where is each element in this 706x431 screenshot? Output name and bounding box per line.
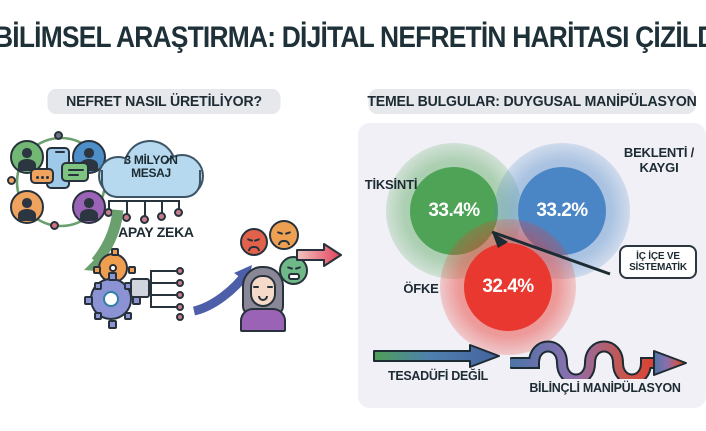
venn-label-anxiety: BEKLENTİ / KAYGI <box>616 145 702 175</box>
venn-label-anger: ÖFKE <box>392 281 450 296</box>
gear-circuit-icon <box>130 266 198 322</box>
right-section-heading: TEMEL BULGULAR: DUYGUSAL MANİPÜLASYON <box>368 89 695 114</box>
venn-value-anxiety: 33.2% <box>536 200 587 222</box>
straight-arrow-label: TESADÜFİ DEĞİL <box>368 369 508 383</box>
callout-box: İÇ İÇE VE SİSTEMATİK <box>619 245 697 279</box>
network-node-left <box>7 176 16 185</box>
venn-value-disgust: 33.4% <box>428 200 479 222</box>
cloud-label: 3 MİLYON MESAJ <box>98 154 204 180</box>
person-icon <box>240 266 286 332</box>
emoji-angry-orange <box>269 220 299 250</box>
left-section-heading: NEFRET NASIL ÜRETİLİYOR? <box>47 89 280 114</box>
chat-bubble-green <box>61 162 89 182</box>
avatar-orange <box>10 190 44 224</box>
straight-arrow-icon <box>372 343 502 369</box>
page-title: BİLİMSEL ARAŞTIRMA: DİJİTAL NEFRETİN HAR… <box>0 17 628 59</box>
callout-leader-line <box>488 228 628 286</box>
callout-line-2: SİSTEMATİK <box>629 262 687 273</box>
network-node-top <box>54 131 63 140</box>
chat-bubble-orange <box>30 168 54 184</box>
hate-production-illustration: 3 MİLYON MESAJ YAPAY ZEKA <box>0 118 350 358</box>
wavy-arrow-label: BİLİNÇLİ MANİPÜLASYON <box>514 381 696 395</box>
cloud-icon: 3 MİLYON MESAJ <box>98 140 204 202</box>
emoji-angry-red <box>240 228 268 256</box>
pink-arrow-icon <box>296 242 342 268</box>
callout-line-1: İÇ İÇE VE <box>636 251 680 262</box>
wavy-arrow-icon <box>510 333 690 379</box>
gear-blue-icon <box>90 278 132 320</box>
network-node-bottom <box>50 221 59 230</box>
venn-label-disgust: TİKSİNTİ <box>360 177 422 192</box>
findings-chart-panel: 33.4% TİKSİNTİ 33.2% BEKLENTİ / KAYGI 32… <box>358 123 706 408</box>
arrow-row: TESADÜFİ DEĞİL BİLİNÇLİ MANİPÜLASYON <box>358 341 706 405</box>
